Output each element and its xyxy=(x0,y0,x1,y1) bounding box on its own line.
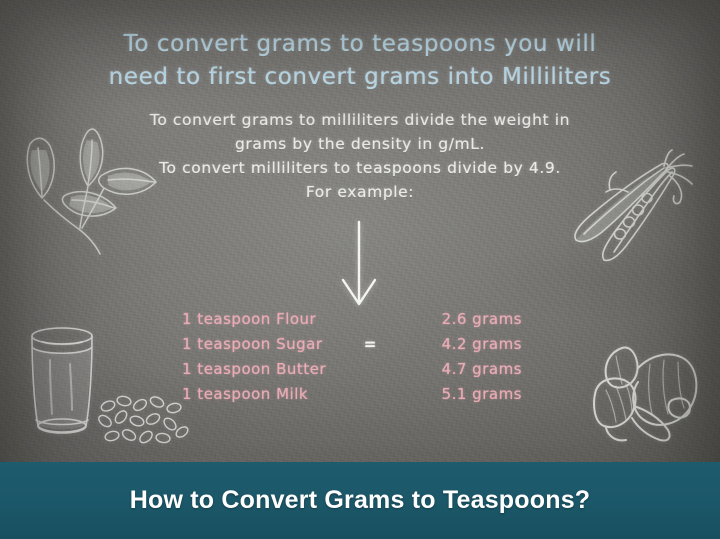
table-cell-equals: = xyxy=(342,335,398,353)
table-cell-label: 1 teaspoon Milk xyxy=(182,385,342,403)
page-title: To convert grams to teaspoons you will n… xyxy=(60,28,660,94)
table-cell-label: 1 teaspoon Sugar xyxy=(182,335,342,353)
chalkboard-slide: To convert grams to teaspoons you will n… xyxy=(0,0,720,539)
table-row: 1 teaspoon Butter 4.7 grams xyxy=(182,360,522,385)
beans-sketch xyxy=(96,392,192,448)
instruction-line-4: For example: xyxy=(110,180,610,204)
table-row: 1 teaspoon Flour 2.6 grams xyxy=(182,310,522,335)
banner-title: How to Convert Grams to Teaspoons? xyxy=(130,486,591,515)
instruction-line-3: To convert milliliters to teaspoons divi… xyxy=(110,156,610,180)
table-cell-value: 4.7 grams xyxy=(398,360,522,378)
table-cell-label: 1 teaspoon Flour xyxy=(182,310,342,328)
ginger-root-sketch xyxy=(586,338,712,448)
title-line-2: need to first convert grams into Millili… xyxy=(60,61,660,94)
title-line-1: To convert grams to teaspoons you will xyxy=(60,28,660,61)
table-row: 1 teaspoon Milk 5.1 grams xyxy=(182,385,522,410)
table-row: 1 teaspoon Sugar = 4.2 grams xyxy=(182,335,522,360)
conversion-table: 1 teaspoon Flour 2.6 grams 1 teaspoon Su… xyxy=(182,310,522,410)
water-glass-sketch xyxy=(22,322,102,444)
instruction-line-2: grams by the density in g/mL. xyxy=(110,132,610,156)
bottom-banner: How to Convert Grams to Teaspoons? xyxy=(0,462,720,539)
table-cell-value: 2.6 grams xyxy=(398,310,522,328)
table-cell-value: 5.1 grams xyxy=(398,385,522,403)
down-arrow-icon xyxy=(336,218,382,310)
instruction-line-1: To convert grams to milliliters divide t… xyxy=(110,108,610,132)
table-cell-label: 1 teaspoon Butter xyxy=(182,360,342,378)
instruction-text: To convert grams to milliliters divide t… xyxy=(110,108,610,204)
table-cell-value: 4.2 grams xyxy=(398,335,522,353)
